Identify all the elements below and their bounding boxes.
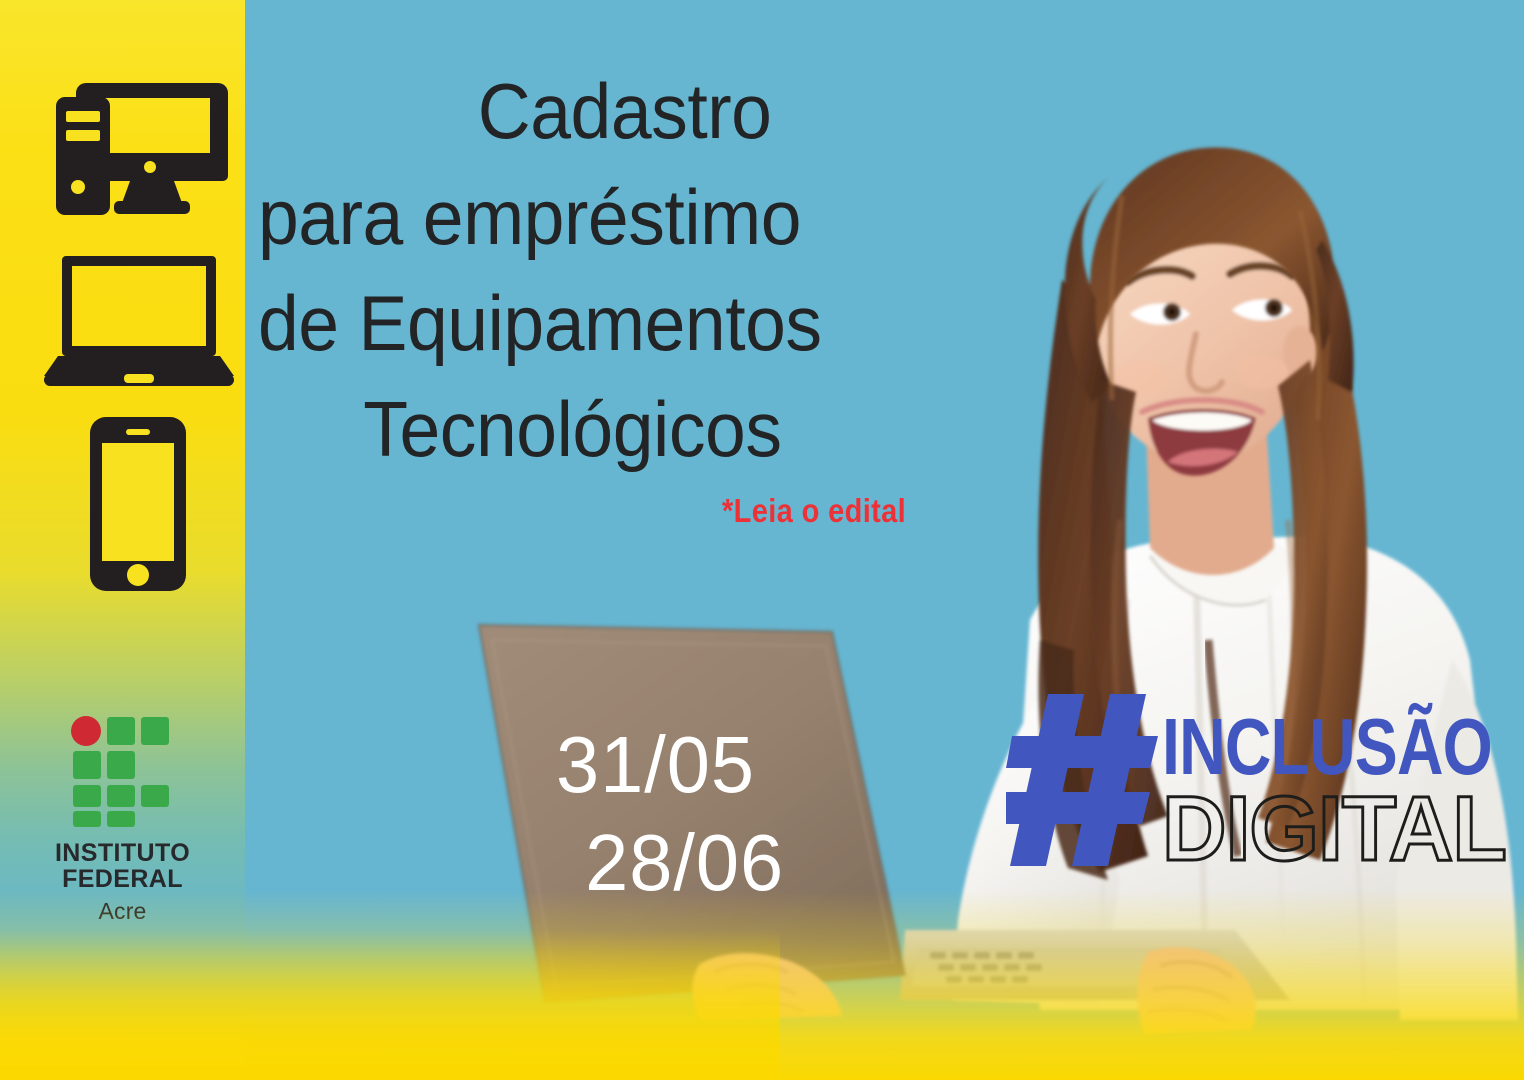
- campaign-word-digital: DIGITAL: [1162, 778, 1506, 878]
- title-line-4: Tecnológicos: [258, 376, 991, 482]
- hash-symbol-icon: [1006, 694, 1158, 866]
- smartphone-icon: [88, 415, 188, 593]
- title-line-2: para empréstimo: [258, 164, 991, 270]
- campaign-hashtag-logo: INCLUSÃO DIGITAL: [1006, 688, 1506, 878]
- laptop-icon: [44, 250, 234, 395]
- if-mark-red-dot: [71, 716, 101, 746]
- page-title: Cadastro para empréstimo de Equipamentos…: [258, 58, 991, 482]
- institution-name-line1: INSTITUTO: [0, 841, 245, 867]
- poster-canvas: INSTITUTO FEDERAL Acre Cadastro para emp…: [0, 0, 1524, 1080]
- bottom-gradient-glow: [0, 930, 780, 1080]
- title-line-1: Cadastro: [258, 58, 991, 164]
- instituto-federal-mark: [0, 715, 245, 827]
- registration-dates: 31/05 28/06: [556, 716, 784, 911]
- title-line-3: de Equipamentos: [258, 270, 991, 376]
- institution-name: INSTITUTO FEDERAL: [0, 841, 245, 893]
- institution-name-line2: FEDERAL: [0, 867, 245, 893]
- desktop-computer-icon: [52, 75, 232, 220]
- edital-note: *Leia o edital: [722, 492, 906, 530]
- date-end: 28/06: [556, 814, 784, 912]
- date-start: 31/05: [556, 716, 784, 814]
